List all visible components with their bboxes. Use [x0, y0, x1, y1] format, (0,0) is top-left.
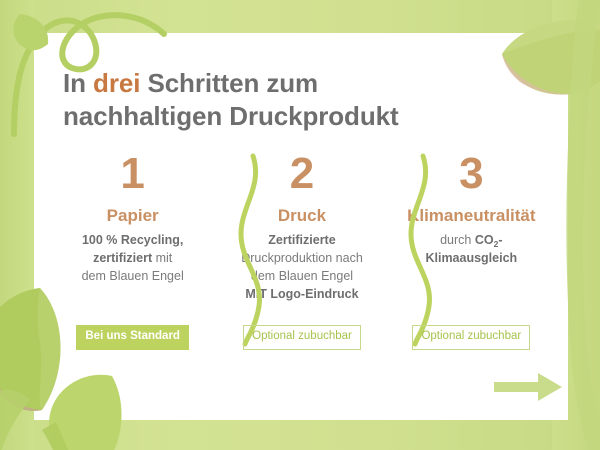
badge-cell-3: Optional zubuchbar — [387, 325, 556, 350]
badge-cell-2: Optional zubuchbar — [217, 325, 386, 350]
wave-divider-icon — [233, 152, 267, 348]
step3-desc-bold-2: Klimaausgleich — [425, 251, 517, 265]
step-description-1: 100 % Recycling, zertifiziert mit dem Bl… — [54, 232, 211, 285]
wave-divider-icon — [403, 152, 437, 348]
heading-line1-pre: In — [63, 68, 93, 98]
step-title-1: Papier — [54, 206, 211, 226]
step2-desc-bold-1: Zertifizierte — [268, 233, 335, 247]
badge-cell-1: Bei uns Standard — [48, 325, 217, 350]
step3-desc-co2: CO — [475, 233, 494, 247]
step-number-1: 1 — [54, 152, 211, 196]
background-band-left — [0, 0, 34, 450]
infographic-canvas: In drei Schritten zum nachhaltigen Druck… — [0, 0, 600, 450]
heading-line2: nachhaltigen Druckprodukt — [63, 101, 399, 131]
step3-desc-co2-subscript: 2 — [494, 239, 499, 249]
status-badge-step-3[interactable]: Optional zubuchbar — [412, 325, 530, 350]
step-column-1: 1 Papier 100 % Recycling, zertifiziert m… — [48, 152, 217, 286]
heading-line1-post: Schritten zum — [140, 68, 318, 98]
step1-desc-normal-1: mit — [152, 251, 172, 265]
step1-desc-bold-2: zertifiziert — [93, 251, 152, 265]
steps-container: 1 Papier 100 % Recycling, zertifiziert m… — [48, 152, 556, 352]
badge-row: Bei uns Standard Optional zubuchbar Opti… — [48, 325, 556, 349]
status-badge-step-2[interactable]: Optional zubuchbar — [243, 325, 361, 350]
step3-desc-dash: - — [498, 233, 502, 247]
page-title: In drei Schritten zum nachhaltigen Druck… — [63, 67, 503, 134]
status-badge-step-1[interactable]: Bei uns Standard — [76, 325, 189, 350]
step1-desc-bold-1: 100 % Recycling, — [82, 233, 183, 247]
heading-accent-word: drei — [93, 68, 140, 98]
step3-desc-normal-1: durch — [440, 233, 475, 247]
step1-desc-normal-2: dem Blauen Engel — [82, 269, 184, 283]
arrow-right-icon[interactable] — [494, 372, 564, 402]
